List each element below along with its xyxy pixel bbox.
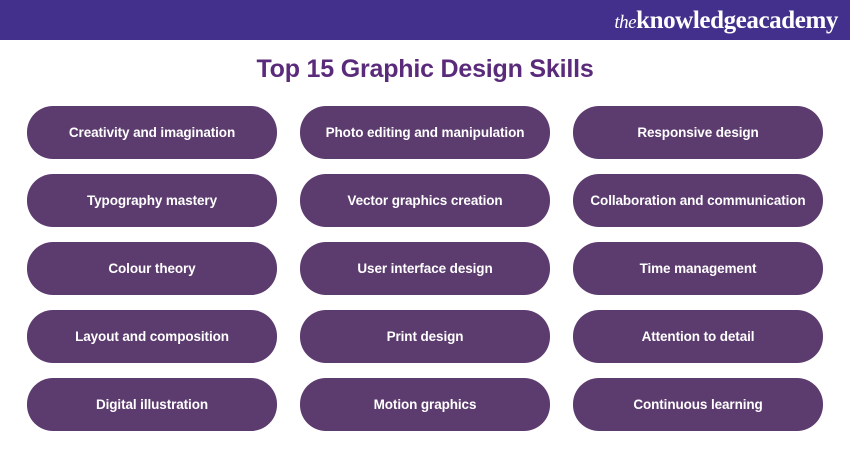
skill-label: Continuous learning [633, 397, 762, 413]
skill-pill-typography-mastery[interactable]: Typography mastery [27, 174, 277, 227]
logo-the-text: the [614, 12, 636, 33]
skill-label: Layout and composition [75, 329, 229, 345]
skill-label: Colour theory [108, 261, 195, 277]
skills-grid: Creativity and imagination Photo editing… [27, 106, 823, 431]
skill-label: Attention to detail [642, 329, 755, 345]
logo-academy-text: academy [746, 7, 838, 34]
skill-pill-digital-illustration[interactable]: Digital illustration [27, 378, 277, 431]
header-band: theknowledgeacademy [0, 0, 850, 40]
skill-pill-print-design[interactable]: Print design [300, 310, 550, 363]
skill-pill-vector-graphics-creation[interactable]: Vector graphics creation [300, 174, 550, 227]
skill-label: Responsive design [637, 125, 758, 141]
skill-label: Collaboration and communication [590, 193, 805, 209]
skill-pill-photo-editing-and-manipulation[interactable]: Photo editing and manipulation [300, 106, 550, 159]
skill-label: User interface design [357, 261, 492, 277]
skill-pill-responsive-design[interactable]: Responsive design [573, 106, 823, 159]
skill-pill-layout-and-composition[interactable]: Layout and composition [27, 310, 277, 363]
skill-label: Print design [387, 329, 464, 345]
skill-label: Time management [640, 261, 757, 277]
skill-pill-creativity-and-imagination[interactable]: Creativity and imagination [27, 106, 277, 159]
logo-knowledge-text: knowledge [636, 7, 746, 34]
skill-pill-attention-to-detail[interactable]: Attention to detail [573, 310, 823, 363]
skill-label: Typography mastery [87, 193, 217, 209]
skill-pill-motion-graphics[interactable]: Motion graphics [300, 378, 550, 431]
skill-pill-collaboration-and-communication[interactable]: Collaboration and communication [573, 174, 823, 227]
skill-pill-colour-theory[interactable]: Colour theory [27, 242, 277, 295]
theknowledgeacademy-logo[interactable]: theknowledgeacademy [614, 8, 838, 33]
skill-label: Vector graphics creation [347, 193, 502, 209]
skill-label: Digital illustration [96, 397, 208, 413]
skill-label: Creativity and imagination [69, 125, 235, 141]
skill-pill-user-interface-design[interactable]: User interface design [300, 242, 550, 295]
skill-pill-time-management[interactable]: Time management [573, 242, 823, 295]
page-title: Top 15 Graphic Design Skills [0, 55, 850, 84]
skill-label: Photo editing and manipulation [326, 125, 525, 141]
infographic-canvas: theknowledgeacademy Top 15 Graphic Desig… [0, 0, 850, 450]
skill-label: Motion graphics [374, 397, 477, 413]
skill-pill-continuous-learning[interactable]: Continuous learning [573, 378, 823, 431]
